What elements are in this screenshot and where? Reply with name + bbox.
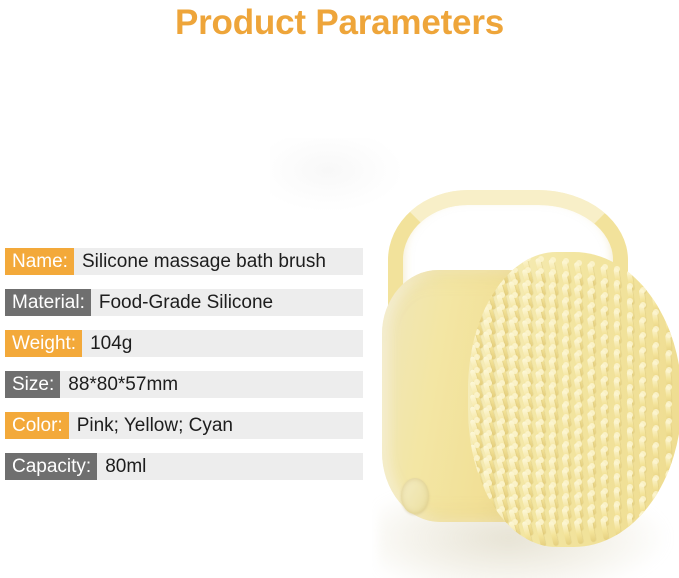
- bristle-tip: [499, 292, 505, 298]
- bristle-tip: [538, 344, 544, 350]
- bristle-tip: [576, 273, 582, 279]
- bristle-tip: [627, 427, 633, 433]
- bristle-tip: [538, 369, 544, 375]
- bristle-tip: [474, 480, 480, 486]
- bristle-tip: [525, 469, 531, 475]
- bristle-tip: [512, 355, 518, 361]
- bristle-tip: [538, 444, 544, 450]
- bristle-tip: [538, 256, 544, 262]
- bristle-tip: [486, 317, 492, 323]
- product-parameters-table: Name: Silicone massage bath brush Materi…: [5, 248, 363, 480]
- bristle-tip: [602, 362, 608, 368]
- bristle-tip: [512, 330, 518, 336]
- bristle-tip: [538, 469, 544, 475]
- bristle-tip: [614, 515, 620, 521]
- bristle-tip: [640, 317, 646, 323]
- bristle-tip: [499, 418, 505, 424]
- bristle-tip: [538, 306, 544, 312]
- bristle-tip: [525, 494, 531, 500]
- bristle-tip: [589, 356, 595, 362]
- bristle-tip: [589, 383, 595, 389]
- bristle-tip: [640, 332, 646, 338]
- bristle-tip: [640, 496, 646, 502]
- bristle-tip: [525, 305, 531, 311]
- bristle-tip: [602, 334, 608, 340]
- bristle-tip: [602, 418, 608, 424]
- bristle-tip: [525, 368, 531, 374]
- bristle-tip: [538, 318, 544, 324]
- bristle-tip: [653, 392, 659, 398]
- bristle-tip: [474, 354, 480, 360]
- bristle-tip: [602, 488, 608, 494]
- bristle-tip: [666, 298, 672, 304]
- bristle-tip: [563, 441, 569, 447]
- bristle-tip: [538, 394, 544, 400]
- bristle-tip: [538, 406, 544, 412]
- bristle-tip: [474, 342, 480, 348]
- bristle-tip: [666, 367, 672, 373]
- bristle-tip: [589, 477, 595, 483]
- bristle-tip: [589, 329, 595, 335]
- spec-label-material: Material:: [5, 289, 91, 316]
- product-photo: [372, 178, 679, 578]
- bristle-tip: [653, 359, 659, 365]
- spec-label-name: Name:: [5, 248, 74, 275]
- bristle-tip: [589, 396, 595, 402]
- bristle-tip: [525, 406, 531, 412]
- bristle-tip: [563, 454, 569, 460]
- bristle-tip: [589, 275, 595, 281]
- bristle-tip: [474, 429, 480, 435]
- bristle-tip: [538, 432, 544, 438]
- bristle-tip: [563, 467, 569, 473]
- bristle-tip: [563, 258, 569, 264]
- bristle-tip: [563, 506, 569, 512]
- bristle-tip: [525, 444, 531, 450]
- bristle-tip: [538, 494, 544, 500]
- bristle-tip: [653, 342, 659, 348]
- bristle-tip: [576, 363, 582, 369]
- bristle-tip: [640, 481, 646, 487]
- bristle-tip: [602, 516, 608, 522]
- bristle-tip: [486, 443, 492, 449]
- bristle-tip: [614, 308, 620, 314]
- bristle-tip: [602, 390, 608, 396]
- bristle-tip: [666, 401, 672, 407]
- bristle-tip: [499, 481, 505, 487]
- bristle-tip: [512, 267, 518, 273]
- bristle-tip: [499, 393, 505, 399]
- bristle-tip: [653, 458, 659, 464]
- bristle-tip: [474, 317, 480, 323]
- bristle-tip: [602, 446, 608, 452]
- dispenser-button: [401, 478, 429, 514]
- bristle-tip: [525, 507, 531, 513]
- spec-value-size: 88*80*57mm: [60, 371, 363, 398]
- bristle-tip: [666, 315, 672, 321]
- bristle-tip: [653, 409, 659, 415]
- bristle-tip: [640, 347, 646, 353]
- bristle-tip: [627, 513, 633, 519]
- bristle-tip: [602, 264, 608, 270]
- bristle-tip: [653, 491, 659, 497]
- bristle-tip: [666, 436, 672, 442]
- bristle-tip: [666, 332, 672, 338]
- bristle-tip: [550, 282, 556, 288]
- bristle-tip: [474, 455, 480, 461]
- bristle-tip: [499, 254, 505, 260]
- bristle-tip: [589, 302, 595, 308]
- bristle-tip: [525, 356, 531, 362]
- bristle-tip: [525, 255, 531, 261]
- spec-label-color: Color:: [5, 412, 69, 439]
- table-row: Material: Food-Grade Silicone: [5, 289, 363, 316]
- bristle-tip: [576, 428, 582, 434]
- bristle-tip: [666, 470, 672, 476]
- bristle-tip: [627, 341, 633, 347]
- bristle-tip: [474, 379, 480, 385]
- bristle-tip: [499, 330, 505, 336]
- bristle-tip: [538, 381, 544, 387]
- bristle-tip: [640, 377, 646, 383]
- bristle-tip: [666, 350, 672, 356]
- bristle-tip: [627, 470, 633, 476]
- bristle-tip: [512, 305, 518, 311]
- bristle-tip: [525, 431, 531, 437]
- bristle-tip: [653, 425, 659, 431]
- bristle-tip: [499, 494, 505, 500]
- bristle-tip: [525, 419, 531, 425]
- table-row: Capacity: 80ml: [5, 453, 363, 480]
- bristle-tip: [589, 450, 595, 456]
- bristle-tip: [602, 320, 608, 326]
- bristle-tip: [512, 507, 518, 513]
- bristle-tip: [486, 292, 492, 298]
- bristle-tip: [474, 404, 480, 410]
- spec-label-capacity: Capacity:: [5, 453, 97, 480]
- bristle-tip: [550, 357, 556, 363]
- bristle-tip: [666, 487, 672, 493]
- bristle-tip: [525, 381, 531, 387]
- bristle-tip: [499, 355, 505, 361]
- bristle-tip: [589, 423, 595, 429]
- bristle-tip: [538, 419, 544, 425]
- bristle-tip: [602, 292, 608, 298]
- bristle-tip: [525, 318, 531, 324]
- bristle-tip: [538, 268, 544, 274]
- bristle-tip: [653, 326, 659, 332]
- bristle-tip: [474, 367, 480, 373]
- bristle-tip: [563, 428, 569, 434]
- bristle-tip: [474, 304, 480, 310]
- bristle-tip: [576, 402, 582, 408]
- bristle-tip: [550, 257, 556, 263]
- bristle-tip: [525, 482, 531, 488]
- bristle-tip: [512, 393, 518, 399]
- bristle-tip: [538, 331, 544, 337]
- bristle-tip: [499, 456, 505, 462]
- bristle-tip: [474, 442, 480, 448]
- bristle-tip: [576, 389, 582, 395]
- bristle-tip: [589, 369, 595, 375]
- bristle-tip: [602, 278, 608, 284]
- bristle-tip: [589, 410, 595, 416]
- table-row: Weight: 104g: [5, 330, 363, 357]
- bristle-tip: [576, 260, 582, 266]
- bristle-tip: [602, 474, 608, 480]
- bristle-tip: [602, 376, 608, 382]
- bristle-tip: [653, 508, 659, 514]
- spec-value-material: Food-Grade Silicone: [91, 289, 363, 316]
- bristle-tip: [474, 492, 480, 498]
- bristle-tip: [589, 504, 595, 510]
- bristle-tip: [538, 507, 544, 513]
- bristle-tip: [653, 293, 659, 299]
- bristle-tip: [653, 442, 659, 448]
- bristle-tip: [538, 356, 544, 362]
- bristle-tip: [538, 519, 544, 525]
- bristle-field: [468, 252, 679, 547]
- bristle-tip: [512, 292, 518, 298]
- bristle-tip: [486, 506, 492, 512]
- bristle-tip: [666, 384, 672, 390]
- bristle-tip: [589, 261, 595, 267]
- bristle-tip: [538, 281, 544, 287]
- bristle-tip: [576, 350, 582, 356]
- bristle-tip: [550, 307, 556, 313]
- bristle-tip: [640, 272, 646, 278]
- bristle-tip: [512, 469, 518, 475]
- bristle-tip: [474, 505, 480, 511]
- table-row: Name: Silicone massage bath brush: [5, 248, 363, 275]
- bristle-tip: [666, 453, 672, 459]
- bristle-tip: [602, 460, 608, 466]
- bristle-tip: [614, 446, 620, 452]
- bristle-tip: [512, 456, 518, 462]
- bristle-tip: [474, 467, 480, 473]
- bristle-tip: [640, 362, 646, 368]
- spec-value-name: Silicone massage bath brush: [74, 248, 363, 275]
- bristle-tip: [474, 279, 480, 285]
- bristle-tip: [602, 404, 608, 410]
- bristle-tip: [640, 511, 646, 517]
- bristle-tip: [589, 342, 595, 348]
- bristle-tip: [614, 266, 620, 272]
- bristle-tip: [653, 309, 659, 315]
- bristle-tip: [563, 493, 569, 499]
- bristle-tip: [614, 294, 620, 300]
- spec-value-capacity: 80ml: [97, 453, 363, 480]
- table-row: Color: Pink; Yellow; Cyan: [5, 412, 363, 439]
- bristle-tip: [653, 276, 659, 282]
- bristle-tip: [525, 343, 531, 349]
- bristle-tip: [512, 431, 518, 437]
- bristle-tip: [627, 269, 633, 275]
- bristle-tip: [525, 280, 531, 286]
- bristle-tip: [512, 343, 518, 349]
- bristle-tip: [474, 392, 480, 398]
- bristle-tip: [576, 415, 582, 421]
- bristle-tip: [653, 375, 659, 381]
- bristle-tip: [640, 302, 646, 308]
- bristle-tip: [640, 451, 646, 457]
- bristle-tip: [474, 254, 480, 260]
- bristle-tip: [486, 380, 492, 386]
- bristle-tip: [653, 475, 659, 481]
- bristle-tip: [525, 293, 531, 299]
- bristle-tip: [538, 293, 544, 299]
- spec-label-size: Size:: [5, 371, 60, 398]
- bristle-tip: [576, 376, 582, 382]
- spec-value-color: Pink; Yellow; Cyan: [69, 412, 363, 439]
- bristle-tip: [602, 502, 608, 508]
- bristle-tip: [602, 306, 608, 312]
- bristle-tip: [474, 417, 480, 423]
- bristle-tip: [576, 441, 582, 447]
- bristle-tip: [563, 480, 569, 486]
- bristle-tip: [474, 329, 480, 335]
- bristle-tip: [589, 517, 595, 523]
- bristle-tip: [499, 317, 505, 323]
- bristle-tip: [563, 519, 569, 525]
- bristle-tip: [602, 432, 608, 438]
- bristle-tip: [627, 384, 633, 390]
- bristle-tip: [512, 368, 518, 374]
- bristle-tip: [512, 406, 518, 412]
- bristle-tip: [512, 494, 518, 500]
- bristle-tip: [640, 466, 646, 472]
- bristle-tip: [589, 315, 595, 321]
- bristle-tip: [602, 348, 608, 354]
- bristle-tip: [666, 281, 672, 287]
- bristle-tip: [538, 482, 544, 488]
- spec-value-weight: 104g: [82, 330, 363, 357]
- bristle-tip: [499, 519, 505, 525]
- bristle-tip: [550, 332, 556, 338]
- page-title: Product Parameters: [0, 2, 679, 44]
- bristle-tip: [538, 457, 544, 463]
- bristle-tip: [627, 298, 633, 304]
- brush-illustration: [372, 178, 679, 578]
- bristle-tip: [576, 454, 582, 460]
- bristle-tip: [550, 382, 556, 388]
- spec-label-weight: Weight:: [5, 330, 82, 357]
- table-row: Size: 88*80*57mm: [5, 371, 363, 398]
- bristle-tip: [614, 377, 620, 383]
- bristle-tip: [474, 266, 480, 272]
- bristle-tip: [640, 436, 646, 442]
- bristle-tip: [474, 517, 480, 523]
- bristle-tip: [666, 418, 672, 424]
